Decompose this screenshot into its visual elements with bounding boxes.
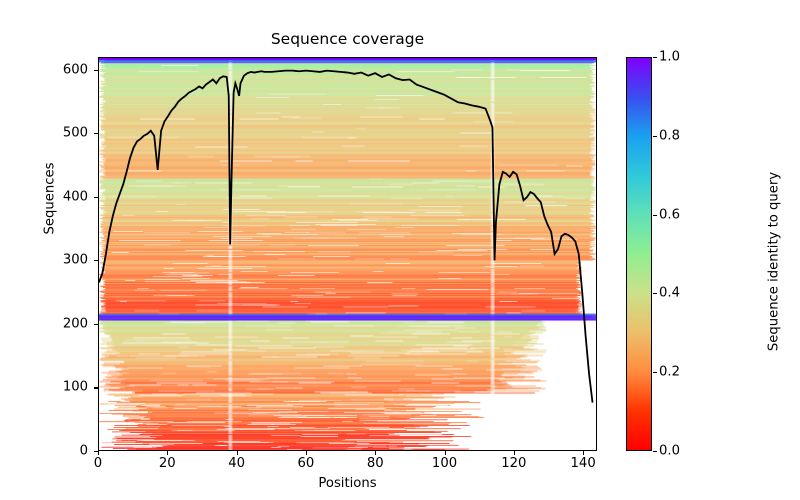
colorbar-tick [653, 136, 657, 137]
colorbar-tick-label: 0.2 [659, 365, 680, 380]
coverage-line [99, 71, 593, 403]
y-tick-label: 200 [63, 316, 88, 331]
x-tick [237, 451, 238, 455]
x-tick [375, 451, 376, 455]
x-tick [167, 451, 168, 455]
figure-canvas: Sequence coverage 020406080100120140 010… [0, 0, 800, 500]
x-tick [445, 451, 446, 455]
y-tick [94, 387, 98, 388]
colorbar-tick [653, 57, 657, 58]
colorbar[interactable] [626, 57, 652, 451]
y-tick-label: 0 [80, 444, 88, 459]
y-tick [94, 260, 98, 261]
colorbar-tick [653, 372, 657, 373]
page-title: Sequence coverage [98, 30, 597, 48]
x-tick-label: 100 [432, 456, 457, 471]
y-tick-label: 400 [63, 189, 88, 204]
colorbar-tick [653, 293, 657, 294]
y-tick-label: 100 [63, 380, 88, 395]
y-tick [94, 133, 98, 134]
x-tick [514, 451, 515, 455]
colorbar-gradient [627, 58, 651, 450]
x-tick-label: 120 [501, 456, 526, 471]
colorbar-tick-label: 0.6 [659, 207, 680, 222]
x-axis-label: Positions [98, 476, 597, 491]
y-axis-label: Sequences [43, 119, 58, 279]
coverage-line-overlay [99, 58, 596, 450]
y-tick [94, 324, 98, 325]
x-tick-label: 0 [94, 456, 102, 471]
y-tick-label: 300 [63, 253, 88, 268]
x-tick-label: 80 [367, 456, 384, 471]
y-tick [94, 451, 98, 452]
colorbar-tick-label: 1.0 [659, 50, 680, 65]
colorbar-label: Sequence identity to query [767, 132, 782, 392]
y-tick-label: 600 [63, 62, 88, 77]
x-tick-label: 60 [298, 456, 315, 471]
colorbar-tick [653, 215, 657, 216]
x-tick-label: 140 [571, 456, 596, 471]
x-tick-label: 40 [228, 456, 245, 471]
y-tick-label: 500 [63, 126, 88, 141]
colorbar-tick-label: 0.0 [659, 444, 680, 459]
x-tick [98, 451, 99, 455]
heatmap-axes[interactable] [98, 57, 597, 451]
x-tick [306, 451, 307, 455]
colorbar-tick-label: 0.8 [659, 128, 680, 143]
y-tick [94, 70, 98, 71]
colorbar-tick-label: 0.4 [659, 286, 680, 301]
x-tick [583, 451, 584, 455]
colorbar-tick [653, 451, 657, 452]
x-tick-label: 20 [159, 456, 176, 471]
y-tick [94, 197, 98, 198]
